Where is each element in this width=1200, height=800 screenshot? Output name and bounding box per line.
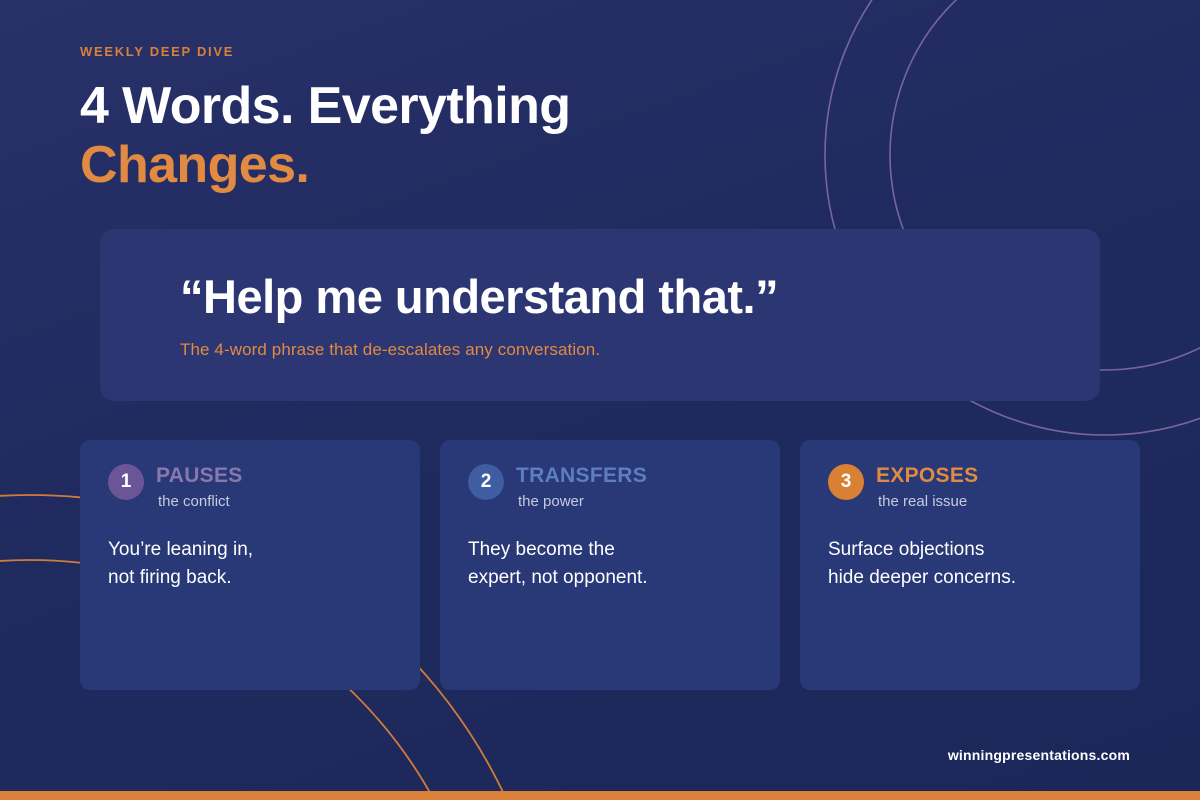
card-header: 1 PAUSES the conflict (108, 462, 392, 510)
card-title-group: TRANSFERS the power (516, 462, 647, 510)
benefit-card: 3 EXPOSES the real issue Surface objecti… (800, 440, 1140, 690)
card-subtitle: the real issue (878, 493, 978, 510)
card-body-text: You’re leaning in, not firing back. (108, 536, 392, 591)
card-title: EXPOSES (876, 464, 978, 487)
card-title: PAUSES (156, 464, 243, 487)
card-title: TRANSFERS (516, 464, 647, 487)
header: WEEKLY DEEP DIVE 4 Words. Everything Cha… (80, 44, 570, 196)
headline-line-2: Changes. (80, 136, 570, 195)
benefit-card-list: 1 PAUSES the conflict You’re leaning in,… (80, 440, 1140, 690)
benefit-card: 1 PAUSES the conflict You’re leaning in,… (80, 440, 420, 690)
footer-website: winningpresentations.com (948, 747, 1130, 763)
headline-line-1: 4 Words. Everything (80, 77, 570, 136)
page-title: 4 Words. Everything Changes. (80, 77, 570, 196)
eyebrow-label: WEEKLY DEEP DIVE (80, 44, 570, 59)
step-number-badge: 1 (108, 464, 144, 500)
card-header: 3 EXPOSES the real issue (828, 462, 1112, 510)
step-number-badge: 2 (468, 464, 504, 500)
slide-canvas: WEEKLY DEEP DIVE 4 Words. Everything Cha… (0, 0, 1200, 800)
benefit-card: 2 TRANSFERS the power They become the ex… (440, 440, 780, 690)
quote-card: “Help me understand that.” The 4-word ph… (100, 229, 1100, 401)
card-title-group: EXPOSES the real issue (876, 462, 978, 510)
card-subtitle: the conflict (158, 493, 243, 510)
card-title-group: PAUSES the conflict (156, 462, 243, 510)
quote-text: “Help me understand that.” (180, 269, 778, 324)
card-body-text: Surface objections hide deeper concerns. (828, 536, 1112, 591)
quote-subtitle: The 4-word phrase that de-escalates any … (180, 340, 600, 360)
bottom-accent-bar (0, 791, 1200, 800)
card-subtitle: the power (518, 493, 647, 510)
card-body-text: They become the expert, not opponent. (468, 536, 752, 591)
step-number-badge: 3 (828, 464, 864, 500)
card-header: 2 TRANSFERS the power (468, 462, 752, 510)
